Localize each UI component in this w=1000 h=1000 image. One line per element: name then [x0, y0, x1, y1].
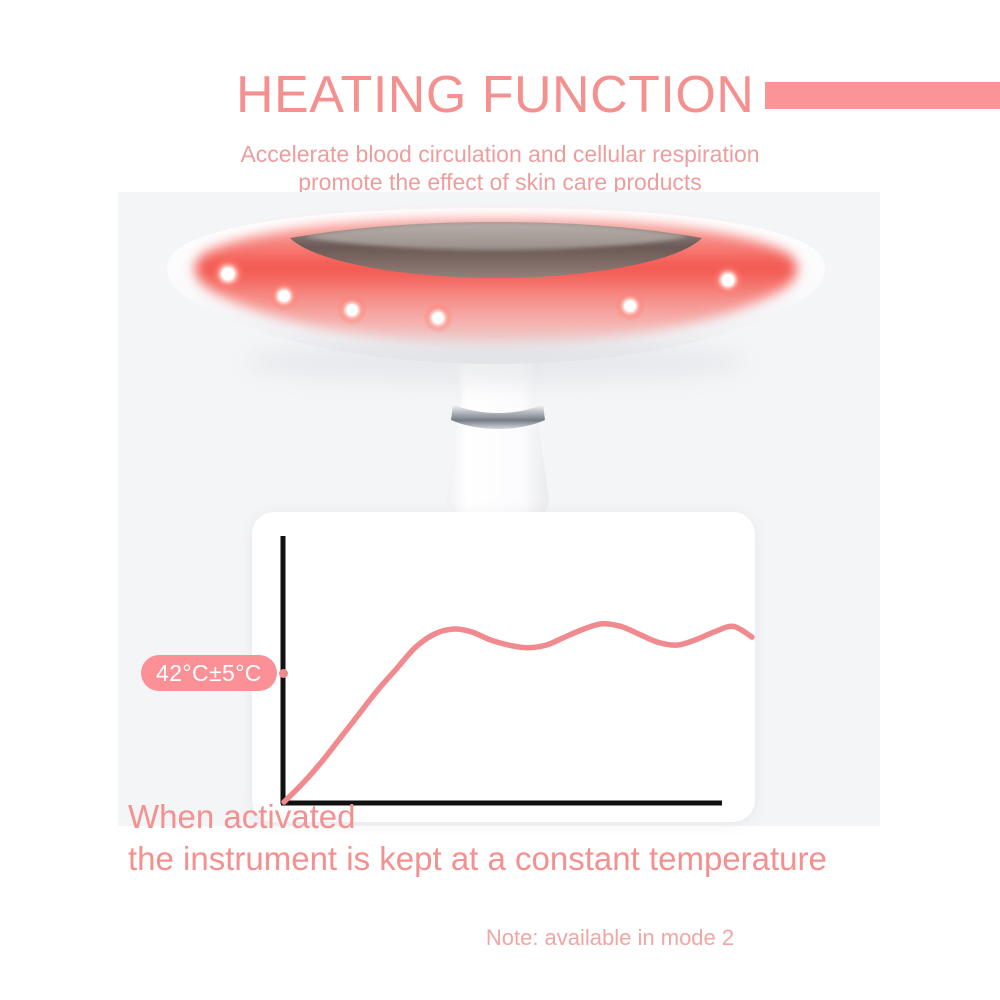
- caption: When activated the instrument is kept at…: [128, 796, 827, 880]
- temperature-setpoint-label: 42°C±5°C: [141, 655, 277, 691]
- temperature-curve: [284, 624, 752, 802]
- note: Note: available in mode 2: [0, 924, 1000, 952]
- caption-line-1: When activated: [128, 796, 827, 838]
- product-infographic: HEATING FUNCTION Accelerate blood circul…: [0, 0, 1000, 1000]
- page-title: HEATING FUNCTION: [236, 66, 754, 124]
- temperature-chart-card: [252, 512, 755, 822]
- caption-line-2: the instrument is kept at a constant tem…: [128, 838, 827, 880]
- temperature-chart: [252, 512, 755, 822]
- title-accent-bar: [765, 82, 1000, 109]
- subtitle-line-1: Accelerate blood circulation and cellula…: [0, 140, 1000, 168]
- note-text: Note: available in mode 2: [486, 925, 734, 950]
- subtitle: Accelerate blood circulation and cellula…: [0, 140, 1000, 196]
- device-shadow: [246, 340, 746, 384]
- setpoint-marker-dot: [279, 669, 288, 678]
